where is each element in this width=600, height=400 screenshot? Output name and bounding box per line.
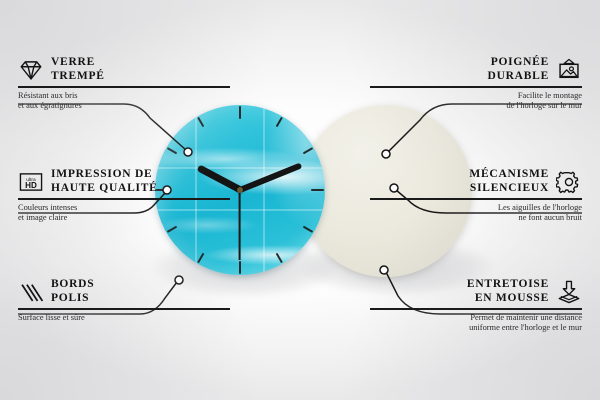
clock-tick <box>239 106 241 190</box>
feature-subtitle: Couleurs intenses et image claire <box>18 203 230 224</box>
feature-header: VERRE TREMPÉ <box>18 56 230 83</box>
feature-subtitle: Surface lisse et sûre <box>18 313 230 323</box>
feature-header: MÉCANISME SILENCIEUX <box>370 168 582 195</box>
feature-entretoise-en-mousse[interactable]: ENTRETOISE EN MOUSSE Permet de maintenir… <box>370 278 582 333</box>
feature-subtitle: Permet de maintenir une distance uniform… <box>370 313 582 334</box>
feature-title: POIGNÉE DURABLE <box>488 56 549 83</box>
feature-title: IMPRESSION DE HAUTE QUALITÉ <box>51 168 158 195</box>
feature-divider <box>370 308 582 310</box>
arrow-onto-stack-icon <box>556 279 582 305</box>
feature-subtitle: Facilite le montage de l'horloge sur le … <box>370 91 582 112</box>
feature-title: MÉCANISME SILENCIEUX <box>469 168 549 195</box>
diagonal-stripes-icon <box>18 279 44 305</box>
clock-tick <box>240 189 324 191</box>
feature-title: VERRE TREMPÉ <box>51 56 105 83</box>
feature-title: ENTRETOISE EN MOUSSE <box>467 278 549 305</box>
feature-divider <box>370 86 582 88</box>
feature-header: POIGNÉE DURABLE <box>370 56 582 83</box>
clock-center-cap <box>237 187 243 193</box>
svg-text:HD: HD <box>25 181 37 190</box>
clock-second-hand <box>239 190 241 260</box>
feature-subtitle: Résistant aux bris et aux égratignures <box>18 91 230 112</box>
feature-header: ultra HD IMPRESSION DE HAUTE QUALITÉ <box>18 168 230 195</box>
gear-icon <box>556 169 582 195</box>
feature-divider <box>18 198 230 200</box>
ultra-hd-icon: ultra HD <box>18 169 44 195</box>
hanging-picture-frame-icon <box>556 57 582 83</box>
feature-verre-trempe[interactable]: VERRE TREMPÉ Résistant aux bris et aux é… <box>18 56 230 111</box>
infographic-canvas: VERRE TREMPÉ Résistant aux bris et aux é… <box>0 0 600 400</box>
feature-bords-polis[interactable]: BORDS POLIS Surface lisse et sûre <box>18 278 230 323</box>
diamond-icon <box>18 57 44 83</box>
feature-mecanisme-silencieux[interactable]: MÉCANISME SILENCIEUX Les aiguilles de l'… <box>370 168 582 223</box>
feature-header: ENTRETOISE EN MOUSSE <box>370 278 582 305</box>
feature-title: BORDS POLIS <box>51 278 94 305</box>
feature-header: BORDS POLIS <box>18 278 230 305</box>
feature-poignee-durable[interactable]: POIGNÉE DURABLE Facilite le montage de l… <box>370 56 582 111</box>
feature-divider <box>18 86 230 88</box>
feature-subtitle: Les aiguilles de l'horloge ne font aucun… <box>370 203 582 224</box>
feature-impression-haute-qualite[interactable]: ultra HD IMPRESSION DE HAUTE QUALITÉ Cou… <box>18 168 230 223</box>
feature-divider <box>370 198 582 200</box>
feature-divider <box>18 308 230 310</box>
